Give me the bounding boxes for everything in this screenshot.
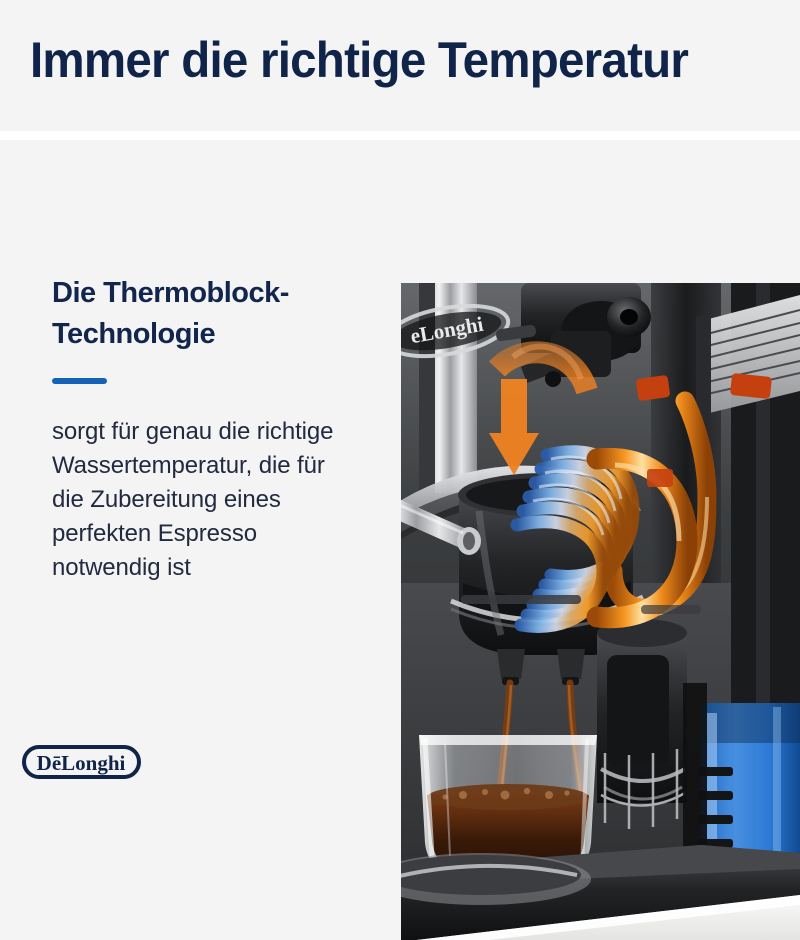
content-area: Die Thermoblock-Technologie sorgt für ge…	[0, 140, 800, 800]
espresso-machine-cutaway-illustration: eLonghi	[401, 283, 800, 940]
section-subheading: Die Thermoblock-Technologie	[52, 273, 372, 355]
logo-wordmark: DēLonghi	[37, 751, 126, 775]
text-column: Die Thermoblock-Technologie sorgt für ge…	[0, 140, 400, 800]
header-divider	[0, 131, 800, 140]
page-title: Immer die richtige Temperatur	[30, 32, 688, 88]
accent-rule	[52, 378, 107, 384]
promo-page: Immer die richtige Temperatur Die Thermo…	[0, 0, 800, 800]
header-bar: Immer die richtige Temperatur	[0, 0, 800, 131]
product-photo: eLonghi	[401, 283, 800, 940]
section-body-text: sorgt für genau die richtige Wassertempe…	[52, 415, 352, 585]
delonghi-logo: DēLonghi	[22, 745, 141, 779]
